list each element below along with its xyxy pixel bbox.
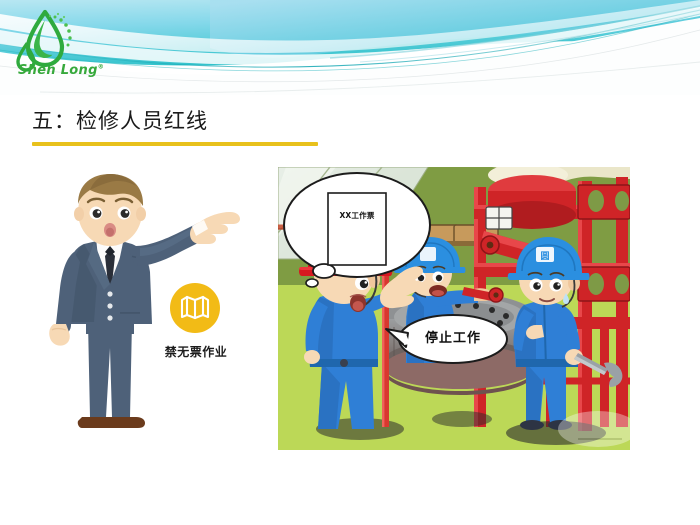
svg-text:圆: 圆 (540, 251, 549, 262)
no-permit-work-badge[interactable] (170, 283, 220, 333)
header-banner: Shen Long® (0, 0, 700, 95)
shen-long-logo: Shen Long® (14, 8, 106, 86)
page-title: 五：检修人员红线 (32, 108, 332, 134)
slide-root: Shen Long® 五：检修人员红线 (0, 0, 700, 525)
maintenance-scene-image: 圆 (278, 167, 630, 450)
no-permit-work-caption: 禁无票作业 (150, 343, 242, 360)
title-underline-rule (32, 142, 318, 146)
logo-wordmark: Shen Long® (18, 63, 104, 78)
open-book-icon (182, 297, 208, 318)
businessman-illustration (24, 172, 274, 447)
page-title-block: 五：检修人员红线 (32, 108, 332, 146)
